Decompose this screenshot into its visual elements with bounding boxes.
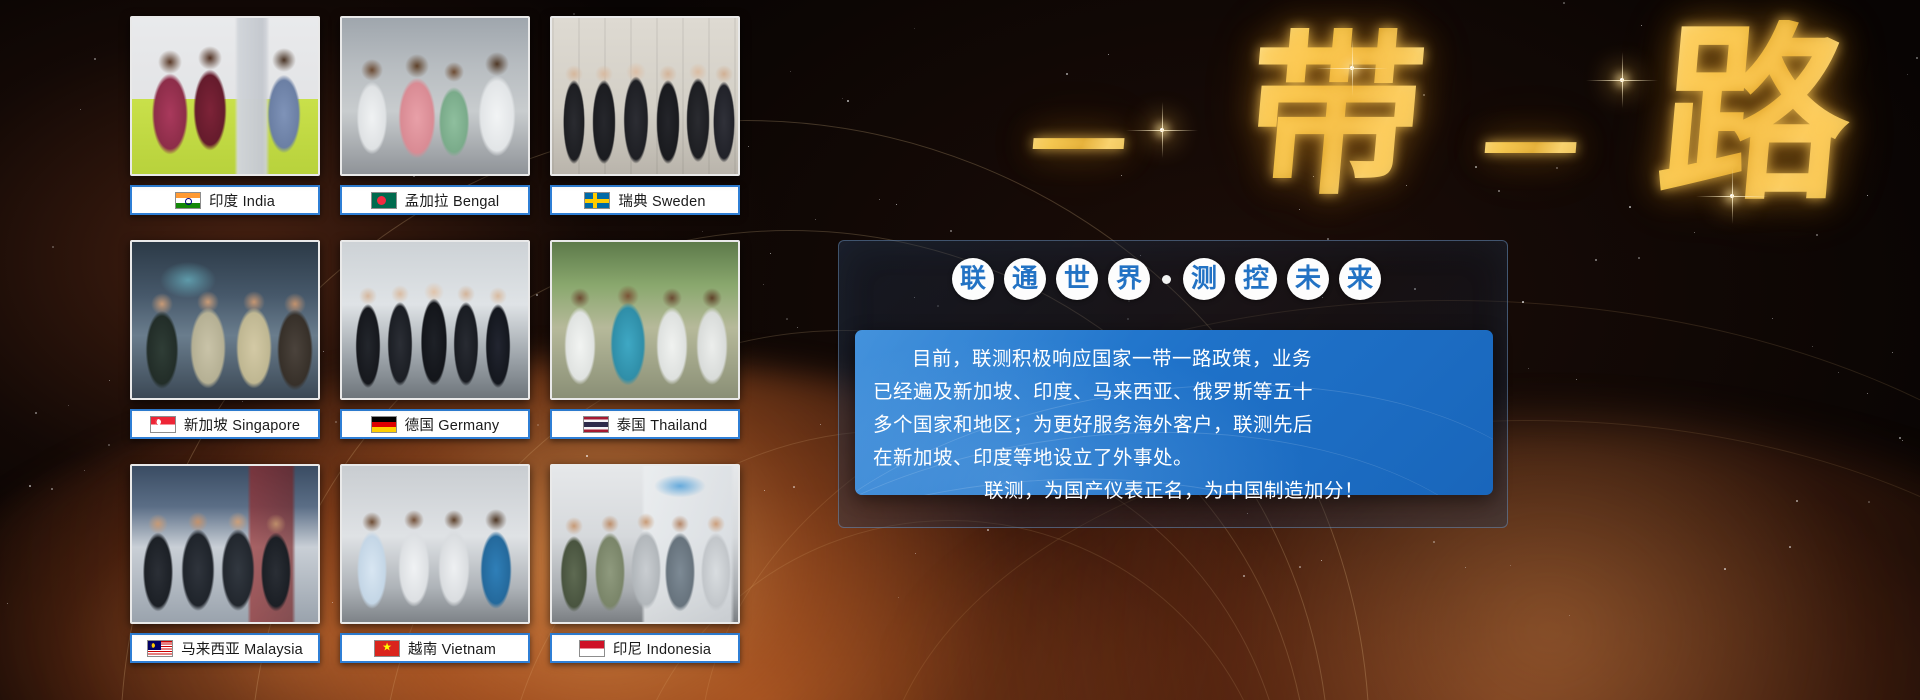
- caption-label: 孟加拉 Bengal: [405, 190, 500, 211]
- slogan-char-badge: 世: [1056, 258, 1098, 300]
- gallery-item-singapore[interactable]: 新加坡 Singapore: [130, 240, 320, 452]
- flag-singapore-icon: [150, 416, 176, 433]
- star-decoration: [842, 98, 843, 99]
- caption-label: 德国 Germany: [405, 414, 500, 435]
- flag-bangladesh-icon: [371, 192, 397, 209]
- sparkle-icon: [1160, 128, 1164, 132]
- star-decoration: [1569, 615, 1570, 616]
- caption-label: 越南 Vietnam: [408, 638, 496, 659]
- caption-label: 泰国 Thailand: [617, 414, 708, 435]
- calligraphy-char-3: 一: [1478, 104, 1582, 200]
- calligraphy-char-4: 路: [1652, 20, 1859, 210]
- slogan-char-badge: 来: [1339, 258, 1381, 300]
- photo-vietnam: [340, 464, 530, 624]
- star-decoration: [1321, 560, 1322, 561]
- star-decoration: [1816, 234, 1818, 236]
- flag-malaysia-icon: [147, 640, 173, 657]
- description-line-5: 联测，为国产仪表正名，为中国制造加分！: [873, 474, 1475, 507]
- star-decoration: [815, 219, 816, 220]
- gallery-item-germany[interactable]: 德国 Germany: [340, 240, 530, 452]
- star-decoration: [898, 597, 899, 598]
- star-decoration: [1243, 575, 1245, 577]
- gallery-item-sweden[interactable]: 瑞典 Sweden: [550, 16, 740, 228]
- star-decoration: [879, 199, 880, 200]
- caption-india: 印度 India: [130, 185, 320, 215]
- star-decoration: [94, 58, 96, 60]
- caption-label: 瑞典 Sweden: [618, 190, 705, 211]
- star-decoration: [1902, 440, 1903, 441]
- star-decoration: [1899, 437, 1901, 439]
- star-decoration: [793, 486, 795, 488]
- caption-singapore: 新加坡 Singapore: [130, 409, 320, 439]
- slogan-char-badge: 测: [1183, 258, 1225, 300]
- star-decoration: [1907, 74, 1908, 75]
- star-decoration: [1812, 346, 1813, 347]
- slogan-char-badge: 控: [1235, 258, 1277, 300]
- star-decoration: [1796, 500, 1798, 502]
- calligraphy-title: 一 带 一 路: [1030, 8, 1890, 223]
- photo-sweden: [550, 16, 740, 176]
- gallery-item-vietnam[interactable]: 越南 Vietnam: [340, 464, 530, 676]
- star-decoration: [7, 603, 8, 604]
- star-decoration: [1868, 501, 1870, 503]
- star-decoration: [764, 490, 765, 491]
- sparkle-icon: [1620, 78, 1624, 82]
- gallery-item-malaysia[interactable]: 马来西亚 Malaysia: [130, 464, 320, 676]
- photo-malaysia: [130, 464, 320, 624]
- caption-thailand: 泰国 Thailand: [550, 409, 740, 439]
- photo-singapore: [130, 240, 320, 400]
- slogan-char-badge: 未: [1287, 258, 1329, 300]
- star-decoration: [35, 412, 37, 414]
- star-decoration: [1694, 232, 1695, 233]
- star-decoration: [1465, 567, 1466, 568]
- caption-label: 马来西亚 Malaysia: [181, 638, 303, 659]
- slogan-char-badge: 通: [1004, 258, 1046, 300]
- photo-indonesia: [550, 464, 740, 624]
- flag-india-icon: [175, 192, 201, 209]
- star-decoration: [914, 28, 915, 29]
- sparkle-icon: [1730, 194, 1734, 198]
- star-decoration: [573, 13, 575, 15]
- description-panel: 目前，联测积极响应国家一带一路政策，业务 已经遍及新加坡、印度、马来西亚、俄罗斯…: [855, 330, 1493, 495]
- star-decoration: [1299, 566, 1301, 568]
- country-photo-gallery: 印度 India 孟加拉 Bengal 瑞典 Sweden: [130, 16, 760, 688]
- star-decoration: [1563, 2, 1565, 4]
- promotional-banner: 印度 India 孟加拉 Bengal 瑞典 Sweden: [0, 0, 1920, 700]
- flag-vietnam-icon: [374, 640, 400, 657]
- star-decoration: [847, 100, 849, 102]
- photo-thailand: [550, 240, 740, 400]
- gallery-item-thailand[interactable]: 泰国 Thailand: [550, 240, 740, 452]
- caption-indonesia: 印尼 Indonesia: [550, 633, 740, 663]
- photo-bengal: [340, 16, 530, 176]
- flag-germany-icon: [371, 416, 397, 433]
- star-decoration: [820, 424, 821, 425]
- caption-malaysia: 马来西亚 Malaysia: [130, 633, 320, 663]
- star-decoration: [797, 327, 798, 328]
- slogan-char-badge: 界: [1108, 258, 1150, 300]
- star-decoration: [790, 71, 791, 72]
- star-decoration: [770, 253, 771, 254]
- calligraphy-char-2: 带: [1240, 28, 1431, 204]
- star-decoration: [68, 405, 69, 406]
- star-decoration: [786, 318, 788, 320]
- star-decoration: [1892, 352, 1893, 353]
- caption-vietnam: 越南 Vietnam: [340, 633, 530, 663]
- flag-indonesia-icon: [579, 640, 605, 657]
- star-decoration: [915, 553, 916, 554]
- star-decoration: [896, 204, 897, 205]
- sparkle-icon: [1350, 66, 1354, 70]
- star-decoration: [109, 380, 110, 381]
- star-decoration: [52, 246, 54, 248]
- photo-india: [130, 16, 320, 176]
- star-decoration: [1510, 565, 1511, 566]
- caption-label: 新加坡 Singapore: [184, 414, 300, 435]
- description-line-3: 多个国家和地区；为更好服务海外客户，联测先后: [873, 408, 1475, 441]
- gallery-item-india[interactable]: 印度 India: [130, 16, 320, 228]
- description-line-4: 在新加坡、印度等地设立了外事处。: [873, 441, 1475, 474]
- star-decoration: [1724, 568, 1726, 570]
- star-decoration: [1772, 318, 1773, 319]
- slogan-separator-dot-icon: [1162, 275, 1171, 284]
- star-decoration: [987, 529, 989, 531]
- star-decoration: [1522, 301, 1524, 303]
- star-decoration: [1789, 546, 1791, 548]
- slogan-badges: 联 通 世 界 测 控 未 来: [952, 258, 1381, 300]
- star-decoration: [29, 485, 31, 487]
- caption-bengal: 孟加拉 Bengal: [340, 185, 530, 215]
- gallery-item-bengal[interactable]: 孟加拉 Bengal: [340, 16, 530, 228]
- star-decoration: [1916, 57, 1918, 59]
- gallery-item-indonesia[interactable]: 印尼 Indonesia: [550, 464, 740, 676]
- caption-label: 印度 India: [209, 190, 275, 211]
- photo-germany: [340, 240, 530, 400]
- caption-sweden: 瑞典 Sweden: [550, 185, 740, 215]
- star-decoration: [1638, 257, 1640, 259]
- description-line-1: 目前，联测积极响应国家一带一路政策，业务: [873, 342, 1475, 375]
- description-line-2: 已经遍及新加坡、印度、马来西亚、俄罗斯等五十: [873, 375, 1475, 408]
- star-decoration: [51, 488, 53, 490]
- star-decoration: [1595, 259, 1597, 261]
- star-decoration: [1433, 541, 1435, 543]
- caption-germany: 德国 Germany: [340, 409, 530, 439]
- caption-label: 印尼 Indonesia: [613, 638, 711, 659]
- flag-thailand-icon: [583, 416, 609, 433]
- star-decoration: [80, 109, 81, 110]
- calligraphy-char-1: 一: [1026, 100, 1130, 196]
- slogan-char-badge: 联: [952, 258, 994, 300]
- star-decoration: [108, 444, 110, 446]
- flag-sweden-icon: [584, 192, 610, 209]
